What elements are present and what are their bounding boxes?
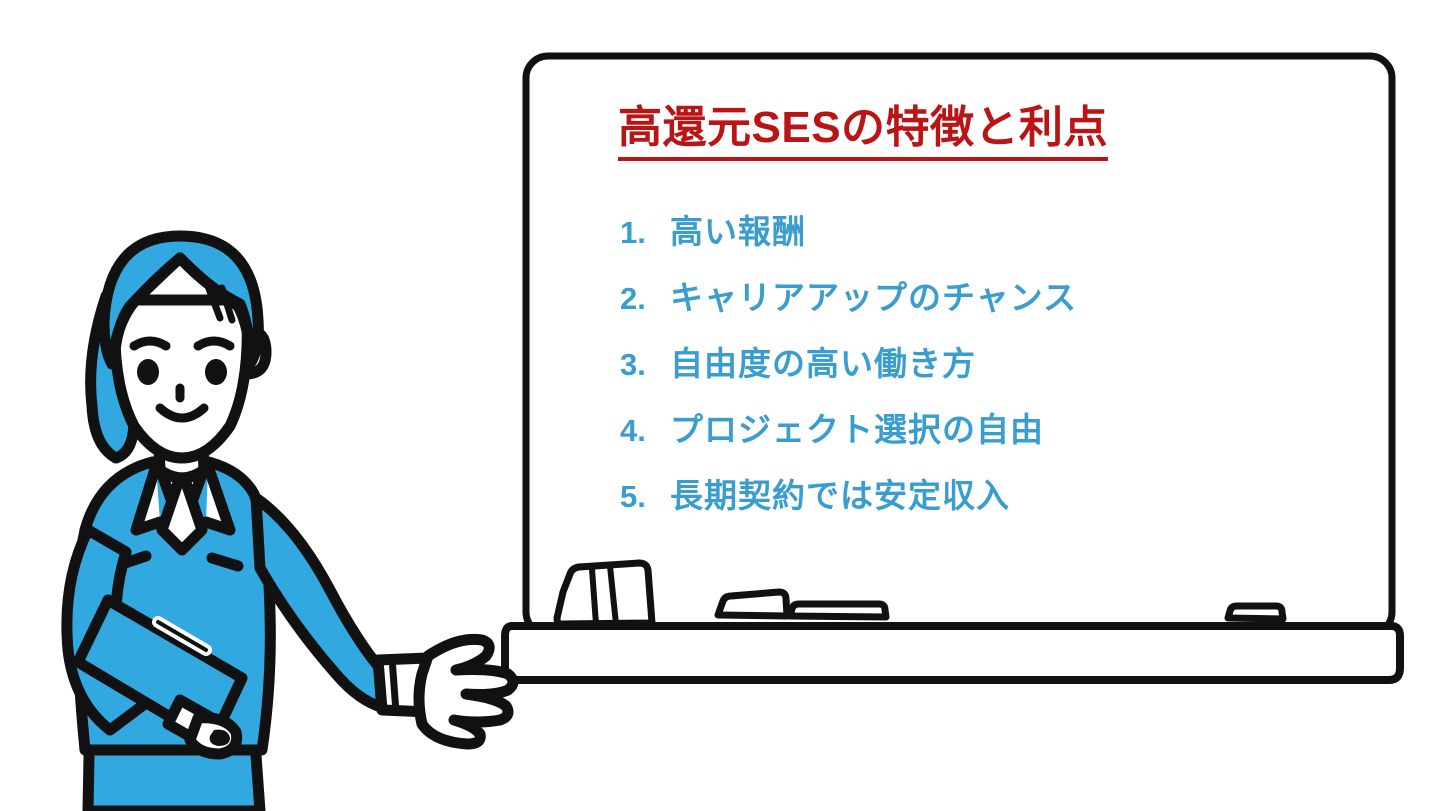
list-item-label: 高い報酬 (670, 205, 806, 253)
list-item-number: 4. (620, 413, 670, 449)
list-item-label: プロジェクト選択の自由 (670, 403, 1044, 451)
cuff-line (392, 658, 396, 712)
list-item: 3. 自由度の高い働き方 (620, 337, 1077, 403)
hair-part-left (114, 258, 180, 362)
face (115, 300, 247, 458)
neck (158, 426, 204, 478)
list-item-label: キャリアアップのチャンス (670, 271, 1077, 319)
eye-left (137, 359, 159, 385)
cuff-left (168, 700, 212, 742)
whiteboard-tray (505, 626, 1400, 680)
eye-right (205, 359, 227, 385)
hair-part-right (180, 258, 250, 362)
list-item: 2. キャリアアップのチャンス (620, 271, 1077, 337)
pointing-hand (419, 639, 513, 744)
list-item-number: 3. (620, 347, 670, 383)
pocket-right (212, 558, 238, 566)
pocket-left (116, 556, 146, 566)
benefits-list: 1. 高い報酬 2. キャリアアップのチャンス 3. 自由度の高い働き方 4. … (620, 205, 1077, 535)
ponytail (91, 296, 134, 458)
folder-label-line (158, 622, 206, 650)
arm-pointing (256, 498, 429, 710)
lapel-right (206, 466, 230, 530)
blouse (158, 463, 206, 530)
hair (104, 236, 258, 364)
hand-clasp (190, 718, 237, 754)
eyebrow-left (134, 341, 166, 346)
hairpin-1 (208, 286, 220, 318)
skirt (88, 700, 260, 811)
list-item-label: 自由度の高い働き方 (670, 337, 976, 385)
list-item: 4. プロジェクト選択の自由 (620, 403, 1077, 469)
lapel-left (136, 466, 160, 530)
list-item-number: 2. (620, 281, 670, 317)
eyebrow-right (198, 341, 230, 346)
board-title-text: 高還元SESの特徴と利点 (618, 104, 1108, 161)
collar-knot (162, 477, 202, 550)
hairpin-2 (222, 288, 232, 320)
clipboard-folder (78, 600, 242, 742)
list-item-number: 1. (620, 215, 670, 251)
list-item: 1. 高い報酬 (620, 205, 1077, 271)
list-item-label: 長期契約では安定収入 (670, 469, 1010, 517)
mouth (160, 408, 204, 418)
ear-left (94, 330, 114, 374)
arm-holding (67, 530, 150, 730)
ear-right (246, 330, 266, 374)
slide-canvas: 高還元SESの特徴と利点 1. 高い報酬 2. キャリアアップのチャンス 3. … (0, 0, 1440, 811)
board-title: 高還元SESの特徴と利点 (618, 104, 1108, 161)
list-item: 5. 長期契約では安定収入 (620, 469, 1077, 535)
suit-jacket (77, 460, 270, 750)
hand-shadow (210, 730, 230, 746)
folder-label (158, 622, 206, 650)
cuff-right (378, 658, 430, 712)
whiteboard-content: 高還元SESの特徴と利点 1. 高い報酬 2. キャリアアップのチャンス 3. … (540, 40, 1400, 620)
presenter-illustration (30, 230, 550, 811)
list-item-number: 5. (620, 479, 670, 515)
